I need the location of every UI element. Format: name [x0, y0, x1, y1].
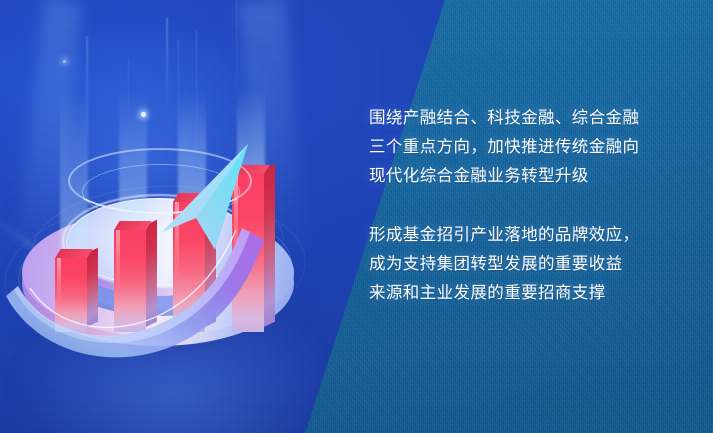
sparkle-icon-2: [63, 60, 66, 63]
rising-arrow-icon: [10, 90, 320, 380]
isometric-growth-illustration: [10, 90, 320, 380]
copy-block: 围绕产融结合、科技金融、综合金融三个重点方向，加快推进传统金融向现代化综合金融业…: [369, 104, 689, 308]
promo-banner: 围绕产融结合、科技金融、综合金融三个重点方向，加快推进传统金融向现代化综合金融业…: [0, 0, 713, 433]
paragraph-outcome-line-2: 成为支持集团转型发展的重要收益: [369, 250, 689, 279]
paragraph-outcome-line-3: 来源和主业发展的重要招商支撑: [369, 279, 689, 308]
paragraph-strategy: 围绕产融结合、科技金融、综合金融三个重点方向，加快推进传统金融向现代化综合金融业…: [369, 104, 689, 191]
paragraph-outcome-line-1: 形成基金招引产业落地的品牌效应，: [369, 221, 689, 250]
paragraph-strategy-line-3: 现代化综合金融业务转型升级: [369, 162, 689, 191]
paragraph-strategy-line-1: 围绕产融结合、科技金融、综合金融: [369, 104, 689, 133]
paragraph-strategy-line-2: 三个重点方向，加快推进传统金融向: [369, 133, 689, 162]
paragraph-outcome: 形成基金招引产业落地的品牌效应，成为支持集团转型发展的重要收益来源和主业发展的重…: [369, 221, 689, 308]
